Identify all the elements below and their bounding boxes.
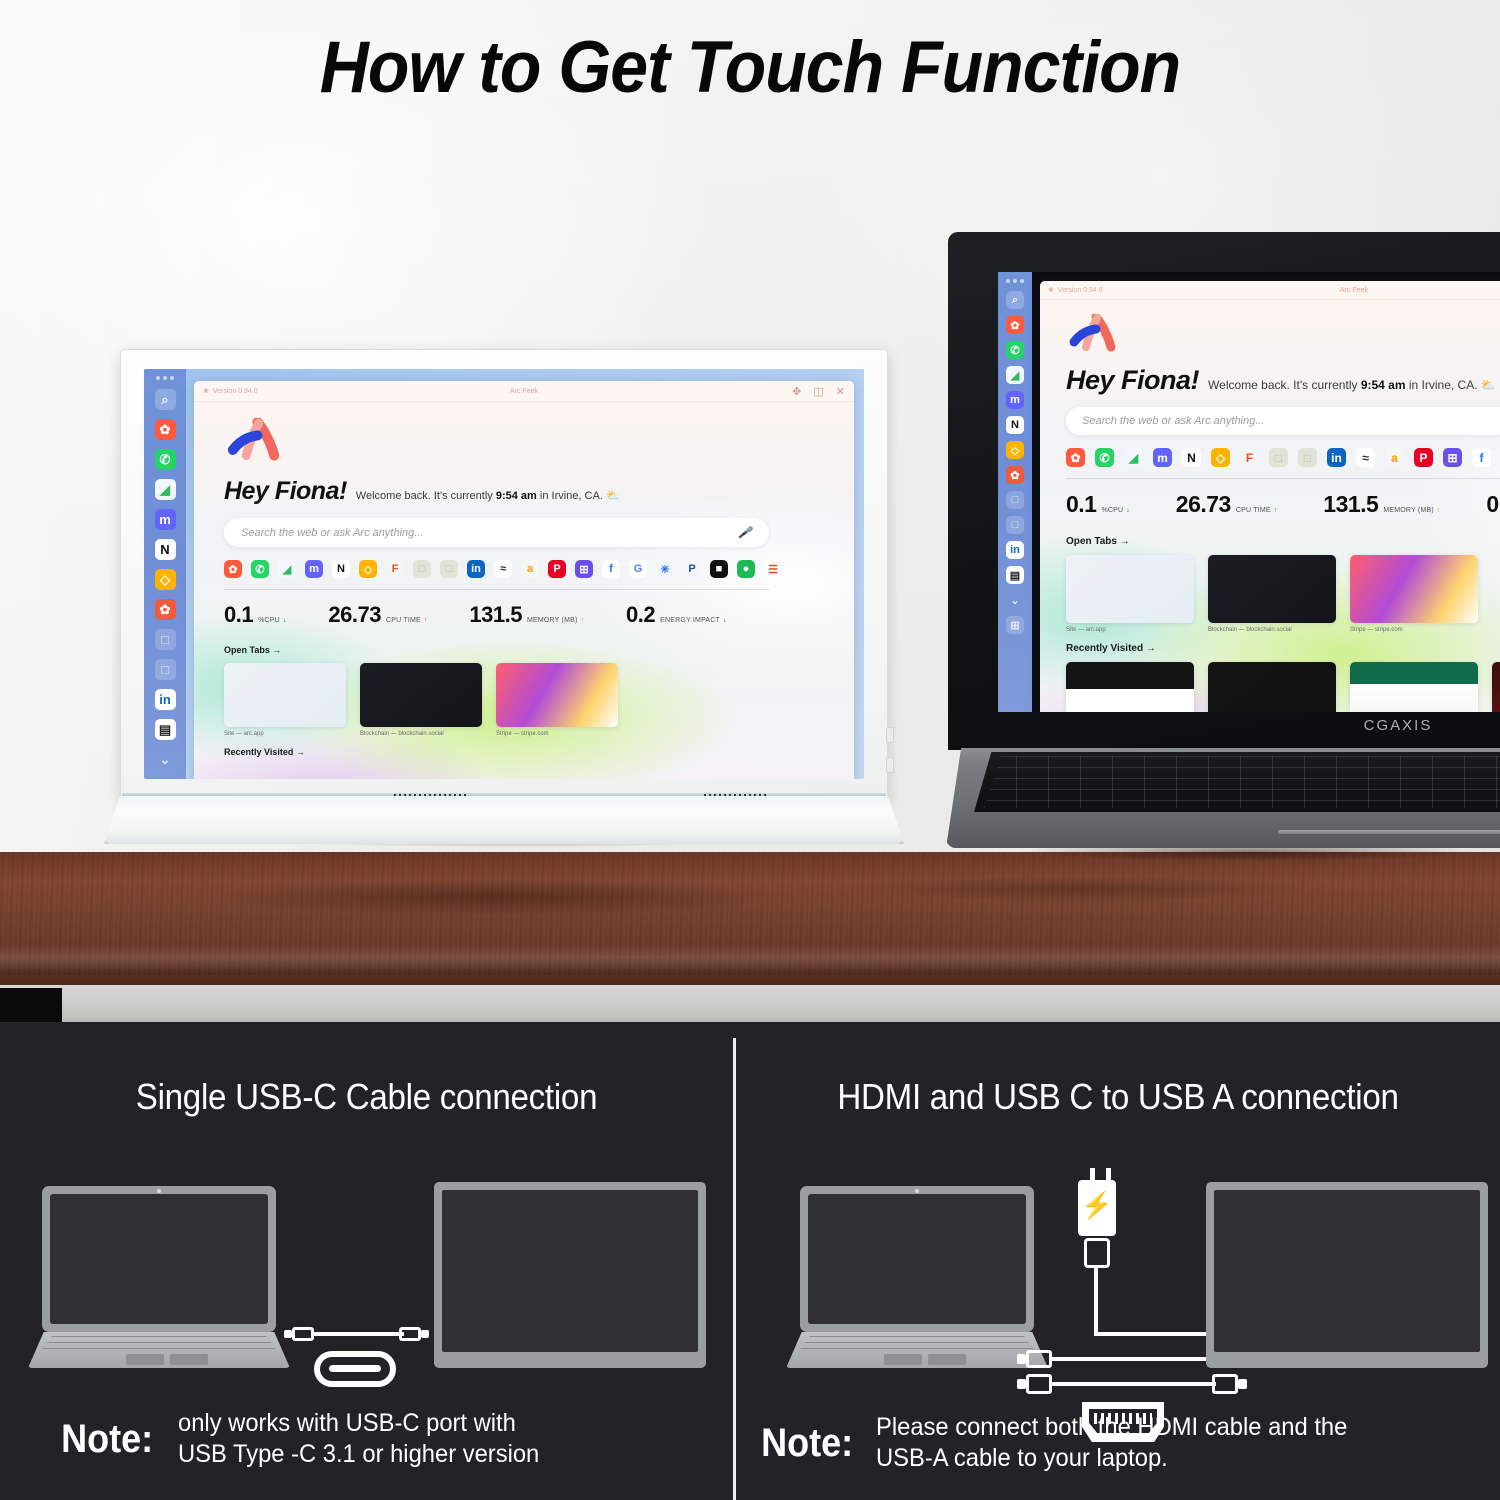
tab-caption: Blockchain — blockchain.social [1208, 627, 1336, 633]
stat-label: ENERGY IMPACT [660, 617, 720, 624]
greeting-subtext-monitor: Welcome back. It's currently 9:54 am in … [356, 489, 620, 502]
laptop-screen: ⌕✿✆◢mN◇✿□□in▤⌄⊞ ❀ Version 0.94.0 Arc Pee… [998, 272, 1500, 712]
arc-browser-monitor: ⌕✿✆◢mN◇✿□□in▤⌄⊞ ❀ Version 0.94.0 Arc Pee… [144, 369, 864, 779]
flickr-icon[interactable]: ✿ [155, 419, 176, 440]
portable-monitor-device: ⌕✿✆◢mN◇✿□□in▤⌄⊞ ❀ Version 0.94.0 Arc Pee… [104, 349, 904, 844]
stat-trend-arrow: ↓ [723, 617, 727, 624]
stat-trend-arrow: ↑ [424, 617, 428, 624]
hdmi-note: Note: Please connect both the HDMI cable… [756, 1412, 1496, 1474]
sketch-favorite-icon[interactable]: ◇ [359, 560, 377, 578]
window-dots-monitor [156, 376, 174, 380]
laptop-brand-label: CGAXIS [1248, 717, 1500, 734]
news-icon[interactable]: ▤ [155, 719, 176, 740]
laptop-icon-screen [808, 1194, 1026, 1324]
laptop-icon-trackpad-left [126, 1354, 164, 1365]
adapter-wire-horizontal [1094, 1332, 1212, 1336]
tab-thumbnail[interactable] [1492, 662, 1500, 712]
close-icon[interactable]: ✕ [836, 385, 845, 398]
stat-item: 131.5MEMORY (MB)↑ [1323, 491, 1440, 518]
stat-label: %CPU [1101, 507, 1123, 514]
stat-item: 26.73CPU TIME↑ [1176, 491, 1277, 518]
hdmi-cable-tip-right [1238, 1379, 1247, 1389]
stat-label: CPU TIME [386, 617, 421, 624]
monitor-port-2[interactable] [886, 757, 894, 773]
cable-tip-left [284, 1330, 292, 1338]
linkedin-icon[interactable]: in [155, 689, 176, 710]
search-icon[interactable]: ⌕ [1006, 291, 1024, 309]
figma-favorite-icon[interactable]: F [1240, 448, 1259, 467]
stat-value: 0.1 [1066, 491, 1096, 518]
monitor-body: ⌕✿✆◢mN◇✿□□in▤⌄⊞ ❀ Version 0.94.0 Arc Pee… [120, 349, 888, 801]
greeting-time-monitor: 9:54 am [496, 490, 537, 502]
square-favorite-icon[interactable]: ■ [710, 560, 728, 578]
arc-window-title: Arc Peek [1040, 287, 1500, 294]
monitor-icon [434, 1182, 706, 1368]
laptop-keys[interactable] [984, 756, 1500, 808]
linkedin-icon[interactable]: in [1006, 541, 1024, 559]
adapter-body: ⚡ [1078, 1180, 1116, 1236]
evernote-icon[interactable]: ◢ [155, 479, 176, 500]
facebook-favorite-icon[interactable]: f [1472, 448, 1491, 467]
laptop-icon-camera [157, 1189, 161, 1193]
arc-logo-svg-monitor [224, 418, 282, 464]
chevron-down-icon[interactable]: ⌄ [1006, 591, 1024, 609]
usb-cable-plug-left-mid [1026, 1350, 1052, 1368]
stat-value: 26.73 [1176, 491, 1231, 518]
tab-card[interactable]: Blockchain — blockchain.social [1208, 555, 1336, 633]
stat-item: 0.1%CPU↓ [1066, 491, 1130, 518]
monitor-stand-base [104, 796, 904, 844]
read-later-favorite-icon[interactable]: ☰ [764, 560, 782, 578]
hdmi-cable-wire [1050, 1382, 1216, 1386]
stat-item: 0.2ENERGY IMPACT↓ [626, 602, 727, 628]
window-controls[interactable]: ✥ ◫ ✕ [792, 385, 845, 398]
mastodon-favorite-icon[interactable]: m [305, 560, 323, 578]
tab-card[interactable]: bulova.com [1066, 662, 1194, 712]
stat-item: 131.5MEMORY (MB)↑ [469, 602, 584, 628]
stat-item: 26.73CPU TIME↑ [328, 602, 427, 628]
green-app-favorite-icon[interactable]: ● [737, 560, 755, 578]
readwise-favorite-icon[interactable]: ≈ [1356, 448, 1375, 467]
flickr-favorite-icon[interactable]: ✿ [224, 560, 242, 578]
stat-value: 26.73 [328, 602, 381, 628]
arc-logo-svg [1066, 314, 1118, 354]
arc-sidebar-monitor[interactable]: ⌕✿✆◢mN◇✿□□in▤⌄⊞ [144, 369, 186, 779]
laptop-icon-trackpad-right [928, 1354, 966, 1365]
stat-value: 0.1 [224, 602, 253, 628]
flickr-favorite-icon[interactable]: ✿ [1066, 448, 1085, 467]
open-tabs-heading-monitor[interactable]: Open Tabs → [224, 645, 854, 655]
paypal-favorite-icon[interactable]: P [683, 560, 701, 578]
monitor-icon-screen [1214, 1190, 1480, 1352]
search-icon[interactable]: ⌕ [155, 389, 176, 410]
note-body: only works with USB-C port with USB Type… [178, 1408, 539, 1470]
usb-cable-wire-mid [1050, 1357, 1216, 1361]
stat-trend-arrow: ↑ [581, 617, 585, 624]
notion-favorite-icon[interactable]: N [332, 560, 350, 578]
amazon-favorite-icon[interactable]: a [1385, 448, 1404, 467]
note-label: Note: [61, 1417, 153, 1462]
arc-logo [1066, 314, 1500, 359]
hdmi-cable-plug-left [1026, 1374, 1052, 1394]
tab-thumbnail[interactable] [224, 663, 346, 727]
whatsapp-icon[interactable]: ✆ [155, 449, 176, 470]
tab-caption: Blockchain — blockchain.social [360, 731, 482, 737]
stats-row-monitor: 0.1%CPU↓26.73CPU TIME↑131.5MEMORY (MB)↑0… [224, 602, 854, 628]
mastodon-icon[interactable]: m [155, 509, 176, 530]
hdmi-panel-title: HDMI and USB C to USB A connection [767, 1076, 1470, 1118]
monitor-screen[interactable]: ⌕✿✆◢mN◇✿□□in▤⌄⊞ ❀ Version 0.94.0 Arc Pee… [144, 369, 864, 779]
search-placeholder-text: Search the web or ask Arc anything... [1082, 415, 1264, 427]
note-label: Note: [761, 1421, 853, 1466]
usb-c-cable-icon [284, 1324, 429, 1344]
stat-value: 131.5 [1323, 491, 1378, 518]
sketch-icon[interactable]: ◇ [155, 569, 176, 590]
window-dots [1006, 279, 1024, 283]
tab-thumbnail[interactable] [1066, 662, 1194, 712]
under-desk-strip [0, 1022, 1500, 1038]
tab-card[interactable]: Blockchain — blockchain.social [360, 663, 482, 737]
product-photo: How to Get Touch Function ⌕✿✆◢mN◇✿□□in▤⌄… [0, 0, 1500, 1038]
news-icon[interactable]: ▤ [1006, 566, 1024, 584]
laptop-icon-trackpad-right [170, 1354, 208, 1365]
lightning-bolt-icon: ⚡ [1081, 1192, 1113, 1218]
adapter-prongs [1090, 1168, 1116, 1180]
arc-window-monitor: ❀ Version 0.94.0 Arc Peek ✥ ◫ ✕ [194, 381, 854, 779]
favorites-row-monitor[interactable]: ✿✆◢mN◇F□□in≈aP⊞fG✳P■●☰ [224, 560, 854, 578]
hdmi-cable-plug-right [1212, 1374, 1238, 1394]
placeholder-1-favorite-icon[interactable]: □ [1269, 448, 1288, 467]
stats-divider [1066, 478, 1500, 479]
tab-thumbnail[interactable] [1350, 555, 1478, 623]
stat-label: %CPU [258, 617, 280, 624]
notion-icon[interactable]: N [1006, 416, 1024, 434]
arc-titlebar-monitor: ❀ Version 0.94.0 Arc Peek ✥ ◫ ✕ [194, 381, 854, 402]
folder-icon[interactable]: □ [155, 629, 176, 650]
linkedin-favorite-icon[interactable]: in [1327, 448, 1346, 467]
weather-icon: ⛅ [1481, 378, 1496, 392]
photos-icon[interactable]: ✿ [155, 599, 176, 620]
greeting-name: Hey Fiona! [1066, 365, 1199, 396]
sidebar-toggle-icon[interactable]: ◫ [813, 385, 823, 398]
tab-thumbnail[interactable] [496, 663, 618, 727]
placeholder-2-favorite-icon[interactable]: □ [440, 560, 458, 578]
monitor-icon-screen [442, 1190, 698, 1352]
arc-page-content: Hey Fiona! Welcome back. It's currently … [1040, 300, 1500, 712]
hdmi-usb-panel: HDMI and USB C to USB A connection ⚡ [736, 1038, 1500, 1500]
placeholder-1-favorite-icon[interactable]: □ [413, 560, 431, 578]
pinterest-favorite-icon[interactable]: P [1414, 448, 1433, 467]
laptop-icon [786, 1186, 1048, 1368]
trello-favorite-icon[interactable]: ⊞ [575, 560, 593, 578]
cable-tip-right [421, 1330, 429, 1338]
arc-logo-monitor [224, 418, 854, 469]
notion-icon[interactable]: N [155, 539, 176, 560]
usb-cable-tip-left-mid [1017, 1354, 1026, 1364]
stat-value: 0.2 [1486, 491, 1500, 518]
greeting-pre: Welcome back. It's currently [1208, 378, 1361, 392]
sketch-favorite-icon[interactable]: ◇ [1211, 448, 1230, 467]
microphone-icon-monitor[interactable]: 🎤 [738, 526, 752, 539]
cable-plug-right [399, 1327, 421, 1341]
usb-c-panel: Single USB-C Cable connection Note: only [0, 1038, 733, 1500]
tab-thumbnail[interactable] [360, 663, 482, 727]
adapter-usb-plug [1084, 1238, 1110, 1268]
laptop-icon-keyboard [40, 1336, 278, 1352]
pinterest-favorite-icon[interactable]: P [548, 560, 566, 578]
arc-greeting: Hey Fiona! Welcome back. It's currently … [1066, 365, 1500, 396]
laptop-icon-camera [915, 1189, 919, 1193]
evernote-favorite-icon[interactable]: ◢ [278, 560, 296, 578]
greeting-subtext: Welcome back. It's currently 9:54 am in … [1208, 378, 1496, 392]
whatsapp-icon[interactable]: ✆ [1006, 341, 1024, 359]
arc-browser-laptop: ⌕✿✆◢mN◇✿□□in▤⌄⊞ ❀ Version 0.94.0 Arc Pee… [998, 272, 1500, 712]
laptop-device: ⌕✿✆◢mN◇✿□□in▤⌄⊞ ❀ Version 0.94.0 Arc Pee… [948, 232, 1500, 872]
page-title: How to Get Touch Function [53, 26, 1448, 109]
arc-sidebar[interactable]: ⌕✿✆◢mN◇✿□□in▤⌄⊞ [998, 272, 1032, 712]
photos-icon[interactable]: ✿ [1006, 466, 1024, 484]
poster-root: How to Get Touch Function ⌕✿✆◢mN◇✿□□in▤⌄… [0, 0, 1500, 1500]
stat-label: MEMORY (MB) [527, 617, 578, 624]
stat-value: 0.2 [626, 602, 655, 628]
tab-thumbnail[interactable] [1350, 662, 1478, 712]
tab-thumbnail[interactable] [1066, 555, 1194, 623]
tab-caption: Stripe — stripe.com [496, 731, 618, 737]
grid-icon[interactable]: ⊞ [1006, 616, 1024, 634]
search-placeholder-text-monitor: Search the web or ask Arc anything... [241, 527, 423, 539]
tab-caption: Site — arc.app [1066, 627, 1194, 633]
monitor-port-1[interactable] [886, 727, 894, 743]
tab-card[interactable]: Stripe — stripe.com [496, 663, 618, 737]
stats-divider-monitor [224, 589, 769, 590]
figma-favorite-icon[interactable]: F [386, 560, 404, 578]
recently-visited-heading[interactable]: Recently Visited → [1066, 643, 1500, 654]
tab-card[interactable]: theverge.com [1208, 662, 1336, 712]
flickr-icon[interactable]: ✿ [1006, 316, 1024, 334]
chevron-down-icon[interactable]: ⌄ [155, 749, 176, 770]
stat-value: 131.5 [469, 602, 522, 628]
evernote-favorite-icon[interactable]: ◢ [1124, 448, 1143, 467]
monitor-icon [1206, 1182, 1488, 1368]
mastodon-favorite-icon[interactable]: m [1153, 448, 1172, 467]
cable-wire [312, 1332, 404, 1336]
note-body: Please connect both the HDMI cable and t… [876, 1412, 1347, 1474]
notion-favorite-icon[interactable]: N [1182, 448, 1201, 467]
greeting-post-monitor: in Irvine, CA. [537, 490, 603, 502]
stat-item: 0.1%CPU↓ [224, 602, 286, 628]
greeting-pre-monitor: Welcome back. It's currently [356, 490, 496, 502]
greeting-time: 9:54 am [1361, 378, 1406, 392]
whatsapp-favorite-icon[interactable]: ✆ [251, 560, 269, 578]
open-tabs-heading[interactable]: Open Tabs → [1066, 536, 1500, 547]
open-tabs-cards[interactable]: Site — arc.appBlockchain — blockchain.so… [1066, 555, 1500, 633]
snowflake-favorite-icon[interactable]: ✳ [656, 560, 674, 578]
stat-trend-arrow: ↓ [283, 617, 287, 624]
recently-visited-cards[interactable]: bulova.comtheverge.comnewsletterlawphilo… [1066, 662, 1500, 712]
tab-card[interactable]: Stripe — stripe.com [1350, 555, 1478, 633]
stats-row: 0.1%CPU↓26.73CPU TIME↑131.5MEMORY (MB)↑0… [1066, 491, 1500, 518]
mastodon-icon[interactable]: m [1006, 391, 1024, 409]
recently-visited-heading-monitor[interactable]: Recently Visited → [224, 747, 854, 757]
arc-titlebar: ❀ Version 0.94.0 Arc Peek [1040, 281, 1500, 300]
evernote-icon[interactable]: ◢ [1006, 366, 1024, 384]
stat-trend-arrow: ↓ [1126, 507, 1130, 514]
power-adapter-icon: ⚡ [1078, 1180, 1116, 1236]
stat-trend-arrow: ↑ [1437, 507, 1441, 514]
arc-greeting-monitor: Hey Fiona! Welcome back. It's currently … [224, 477, 854, 506]
adapter-wire-vertical [1094, 1268, 1098, 1336]
laptop-icon-keyboard [798, 1336, 1036, 1352]
stat-label: CPU TIME [1236, 507, 1271, 514]
laptop-trackpad-edge[interactable] [1278, 830, 1500, 834]
sketch-icon[interactable]: ◇ [1006, 441, 1024, 459]
stat-item: 0.2ENERGY IMPACT↓ [1486, 491, 1500, 518]
usb-c-port-icon [314, 1351, 396, 1387]
stat-label: MEMORY (MB) [1383, 507, 1434, 514]
expand-icon[interactable]: ✥ [792, 385, 801, 398]
hdmi-cable-tip-left [1017, 1379, 1026, 1389]
linkedin-favorite-icon[interactable]: in [467, 560, 485, 578]
amazon-favorite-icon[interactable]: a [521, 560, 539, 578]
whatsapp-favorite-icon[interactable]: ✆ [1095, 448, 1114, 467]
tab-card[interactable]: lawphilosophy [1492, 662, 1500, 712]
laptop-icon [28, 1186, 290, 1368]
laptop-icon-trackpad-left [884, 1354, 922, 1365]
tab-card[interactable]: newsletter [1350, 662, 1478, 712]
usb-c-note: Note: only works with USB-C port with US… [56, 1408, 716, 1470]
open-tabs-cards-monitor[interactable]: Site — arc.appBlockchain — blockchain.so… [224, 663, 854, 737]
arc-search-input-monitor[interactable]: Search the web or ask Arc anything... 🎤 [224, 518, 769, 547]
greeting-post: in Irvine, CA. [1406, 378, 1478, 392]
tab-card[interactable]: Site — arc.app [1066, 555, 1194, 633]
greeting-name-monitor: Hey Fiona! [224, 477, 347, 506]
arc-page-content-monitor: Hey Fiona! Welcome back. It's currently … [194, 402, 854, 779]
folder-icon[interactable]: □ [1006, 491, 1024, 509]
arc-window: ❀ Version 0.94.0 Arc Peek [1040, 281, 1500, 712]
trello-favorite-icon[interactable]: ⊞ [1443, 448, 1462, 467]
laptop-icon-screen [50, 1194, 268, 1324]
arc-window-title-monitor: Arc Peek [194, 388, 854, 395]
folder-2-icon[interactable]: □ [1006, 516, 1024, 534]
arc-search-input[interactable]: Search the web or ask Arc anything... 🎤 [1066, 407, 1500, 435]
tab-card[interactable]: Site — arc.app [224, 663, 346, 737]
cable-plug-left [292, 1327, 314, 1341]
readwise-favorite-icon[interactable]: ≈ [494, 560, 512, 578]
placeholder-2-favorite-icon[interactable]: □ [1298, 448, 1317, 467]
favorites-row[interactable]: ✿✆◢mN◇F□□in≈aP⊞fG✳P■●☰ [1066, 448, 1500, 467]
facebook-favorite-icon[interactable]: f [602, 560, 620, 578]
google-favorite-icon[interactable]: G [629, 560, 647, 578]
tab-caption: Site — arc.app [224, 731, 346, 737]
tab-thumbnail[interactable] [1208, 555, 1336, 623]
tab-caption: Stripe — stripe.com [1350, 627, 1478, 633]
folder-2-icon[interactable]: □ [155, 659, 176, 680]
tab-thumbnail[interactable] [1208, 662, 1336, 712]
usb-c-panel-title: Single USB-C Cable connection [29, 1076, 703, 1118]
stat-trend-arrow: ↑ [1274, 507, 1278, 514]
weather-icon-monitor: ⛅ [606, 490, 620, 502]
